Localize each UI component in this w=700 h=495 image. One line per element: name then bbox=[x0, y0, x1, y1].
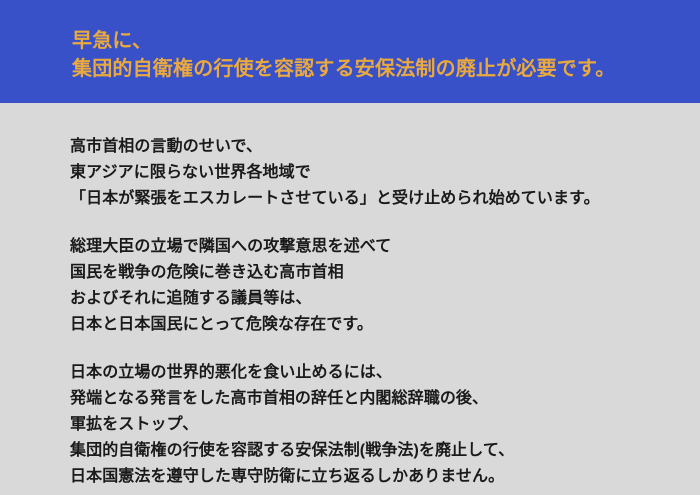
paragraph-3-line-1: 日本の立場の世界的悪化を食い止めるには、 bbox=[70, 360, 700, 386]
statement-body: 高市首相の言動のせいで、 東アジアに限らない世界各地域で 「日本が緊張をエスカレ… bbox=[0, 103, 700, 495]
statement-slide: 早急に、 集団的自衛権の行使を容認する安保法制の廃止が必要です。 高市首相の言動… bbox=[0, 0, 700, 495]
paragraph-2-line-2: 国民を戦争の危険に巻き込む高市首相 bbox=[70, 260, 700, 286]
paragraph-2-line-4: 日本と日本国民にとって危険な存在です。 bbox=[70, 312, 700, 338]
paragraph-1-line-2: 東アジアに限らない世界各地域で bbox=[70, 160, 700, 186]
headline-line-1: 早急に、 bbox=[72, 27, 700, 55]
headline-banner: 早急に、 集団的自衛権の行使を容認する安保法制の廃止が必要です。 bbox=[0, 0, 700, 103]
paragraph-2: 総理大臣の立場で隣国への攻撃意思を述べて 国民を戦争の危険に巻き込む高市首相 お… bbox=[70, 234, 700, 338]
paragraph-3-line-4: 集団的自衛権の行使を容認する安保法制(戦争法)を廃止して、 bbox=[70, 438, 700, 464]
paragraph-3-line-3: 軍拡をストップ、 bbox=[70, 412, 700, 438]
paragraph-3-line-5: 日本国憲法を遵守した専守防衛に立ち返るしかありません。 bbox=[70, 464, 700, 490]
paragraph-3-line-2: 発端となる発言をした高市首相の辞任と内閣総辞職の後、 bbox=[70, 386, 700, 412]
paragraph-1: 高市首相の言動のせいで、 東アジアに限らない世界各地域で 「日本が緊張をエスカレ… bbox=[70, 134, 700, 212]
paragraph-3: 日本の立場の世界的悪化を食い止めるには、 発端となる発言をした高市首相の辞任と内… bbox=[70, 360, 700, 490]
paragraph-1-line-3: 「日本が緊張をエスカレートさせている」と受け止められ始めています。 bbox=[70, 186, 700, 212]
headline-line-2: 集団的自衛権の行使を容認する安保法制の廃止が必要です。 bbox=[72, 55, 700, 83]
paragraph-1-line-1: 高市首相の言動のせいで、 bbox=[70, 134, 700, 160]
paragraph-2-line-3: およびそれに追随する議員等は、 bbox=[70, 286, 700, 312]
paragraph-2-line-1: 総理大臣の立場で隣国への攻撃意思を述べて bbox=[70, 234, 700, 260]
